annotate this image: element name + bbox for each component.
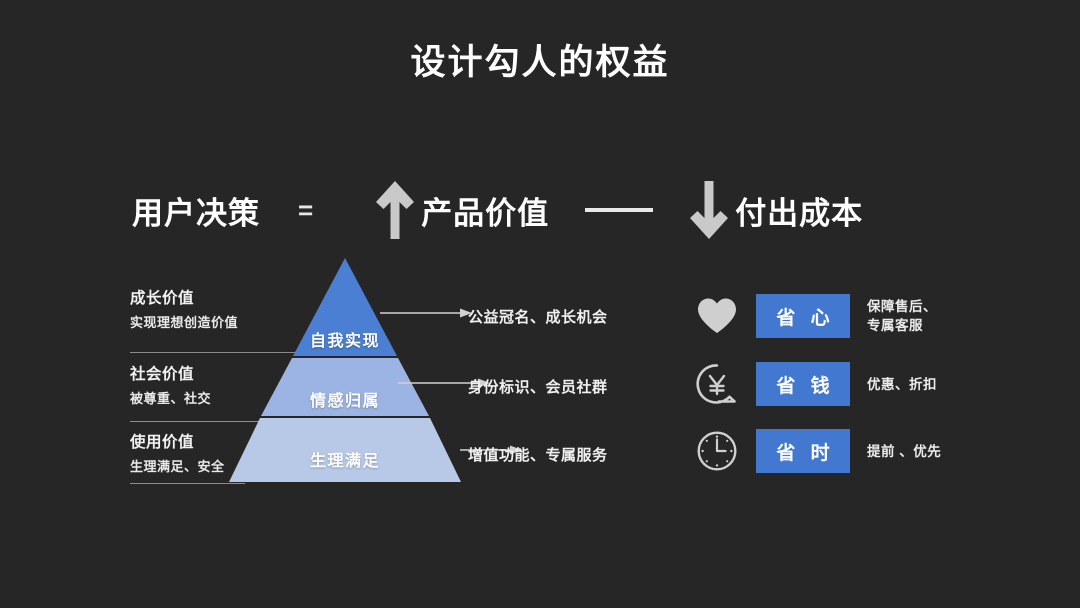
page-title: 设计勾人的权益 xyxy=(0,34,1080,85)
formula-term-cost: 付出成本 xyxy=(735,188,863,233)
outcome-item-growth: 公益冠名、成长机会 xyxy=(468,306,608,327)
outcome-item-usage: 增值功能、专属服务 xyxy=(468,444,608,465)
formula-term-user-decision: 用户决策 xyxy=(132,188,260,233)
benefit-text-peace-of-mind: 保障售后、 专属客服 xyxy=(867,297,937,335)
badge-peace-of-mind[interactable]: 省 心 xyxy=(756,294,850,338)
value-formula: 用户决策 = 产品价值 付出成本 xyxy=(132,178,952,242)
pyramid-level-bottom xyxy=(229,418,461,482)
yen-bubble-icon xyxy=(694,361,740,407)
outcome-item-social: 身份标识、会员社群 xyxy=(468,376,608,397)
clock-icon xyxy=(694,428,740,474)
slide-canvas: 设计勾人的权益 用户决策 = 产品价值 付出成本 成长价值 实现理想创造价值 社… xyxy=(0,0,1080,608)
benefit-row-peace-of-mind: 省 心 保障售后、 专属客服 xyxy=(694,288,937,344)
badge-save-time[interactable]: 省 时 xyxy=(756,429,850,473)
formula-term-product-value: 产品价值 xyxy=(421,188,549,233)
arrow-down-icon xyxy=(689,181,729,239)
connector-arrow-top xyxy=(380,306,472,320)
maslow-pyramid: 自我实现 情感归属 生理满足 xyxy=(225,252,465,488)
heart-icon xyxy=(694,293,740,339)
formula-equals-sign: = xyxy=(298,195,313,226)
benefit-text-save-time: 提前 、优先 xyxy=(867,442,941,461)
formula-minus-sign xyxy=(585,208,653,212)
pyramid-shape xyxy=(225,252,465,488)
benefit-row-save-money: 省 钱 优惠、折扣 xyxy=(694,356,937,412)
arrow-up-icon xyxy=(375,181,415,239)
benefit-text-save-money: 优惠、折扣 xyxy=(867,375,937,394)
badge-save-money[interactable]: 省 钱 xyxy=(756,362,850,406)
benefit-row-save-time: 省 时 提前 、优先 xyxy=(694,423,941,479)
